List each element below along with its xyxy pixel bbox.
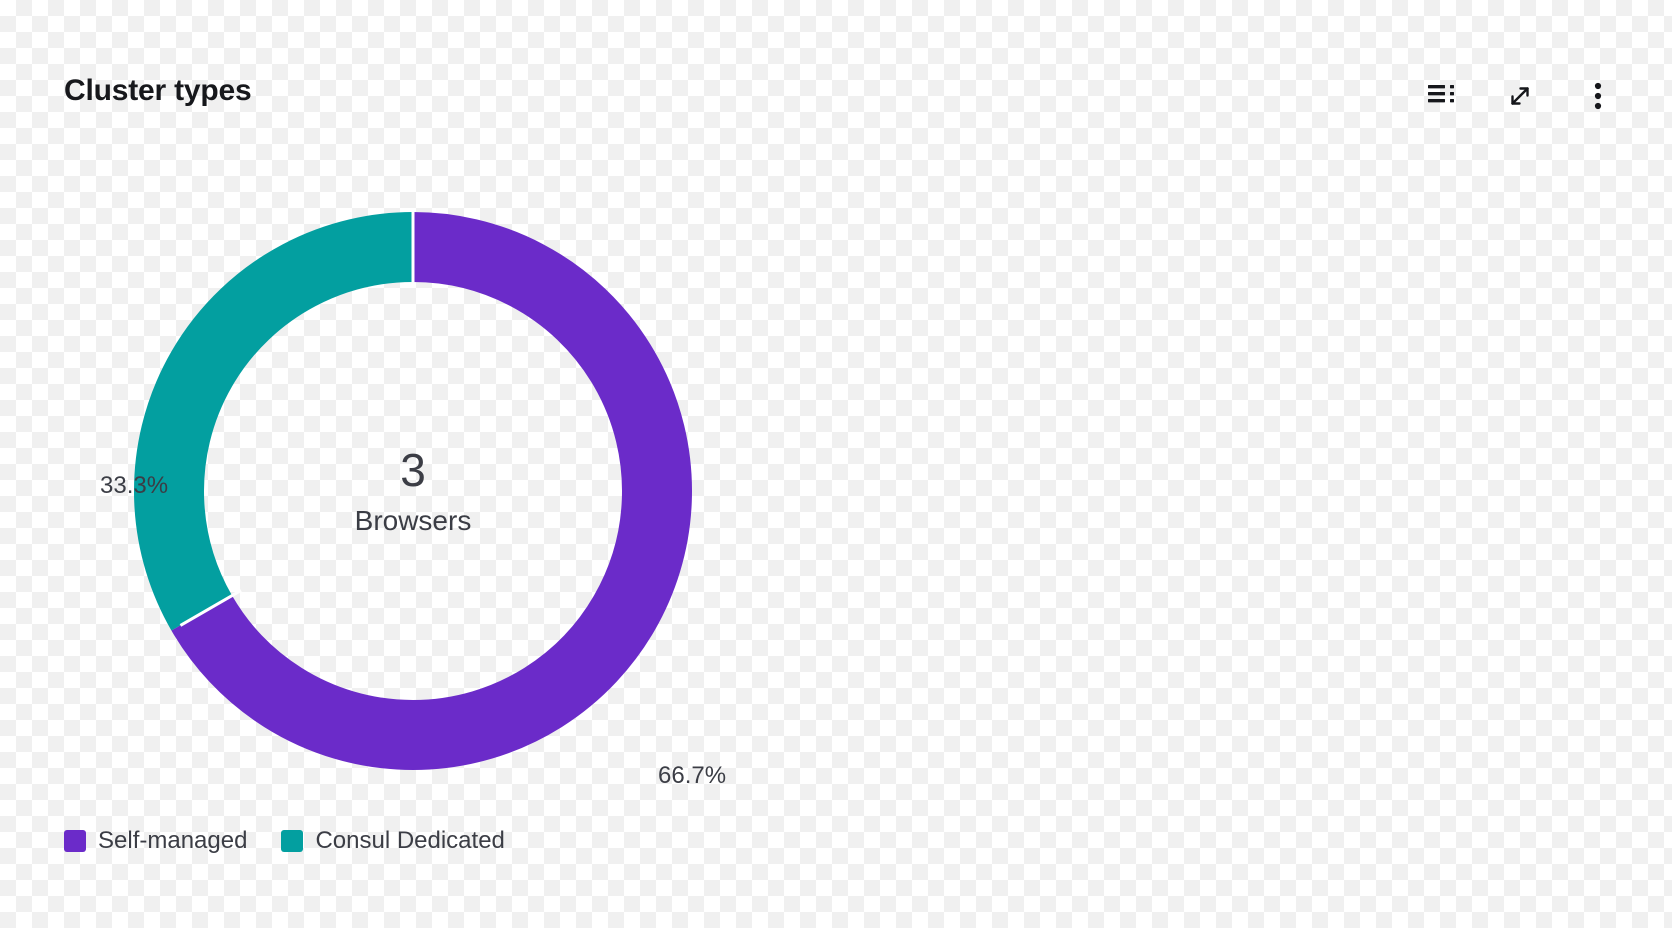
slice-label-consul-dedicated: 33.3%: [100, 472, 168, 500]
expand-icon[interactable]: [1498, 72, 1542, 120]
page-title: Cluster types: [64, 74, 251, 108]
legend-swatch-consul-dedicated: [281, 830, 303, 852]
legend-label-consul-dedicated: Consul Dedicated: [315, 827, 504, 855]
donut-slice-consul-dedicated: [169, 247, 413, 613]
slice-label-self-managed: 66.7%: [658, 762, 726, 790]
chart-card-header: Cluster types: [0, 0, 1672, 150]
legend-item-consul-dedicated[interactable]: Consul Dedicated: [281, 827, 504, 855]
legend-toggle-icon[interactable]: [1420, 72, 1464, 120]
legend-label-self-managed: Self-managed: [98, 827, 247, 855]
legend-swatch-self-managed: [64, 830, 86, 852]
donut-graphic: 3 Browsers: [134, 212, 692, 770]
more-options-icon[interactable]: [1576, 72, 1620, 120]
header-actions: [1420, 72, 1620, 120]
donut-chart: 3 Browsers 33.3% 66.7%: [0, 150, 1672, 840]
legend-item-self-managed[interactable]: Self-managed: [64, 827, 247, 855]
chart-legend: Self-managed Consul Dedicated: [64, 827, 505, 855]
